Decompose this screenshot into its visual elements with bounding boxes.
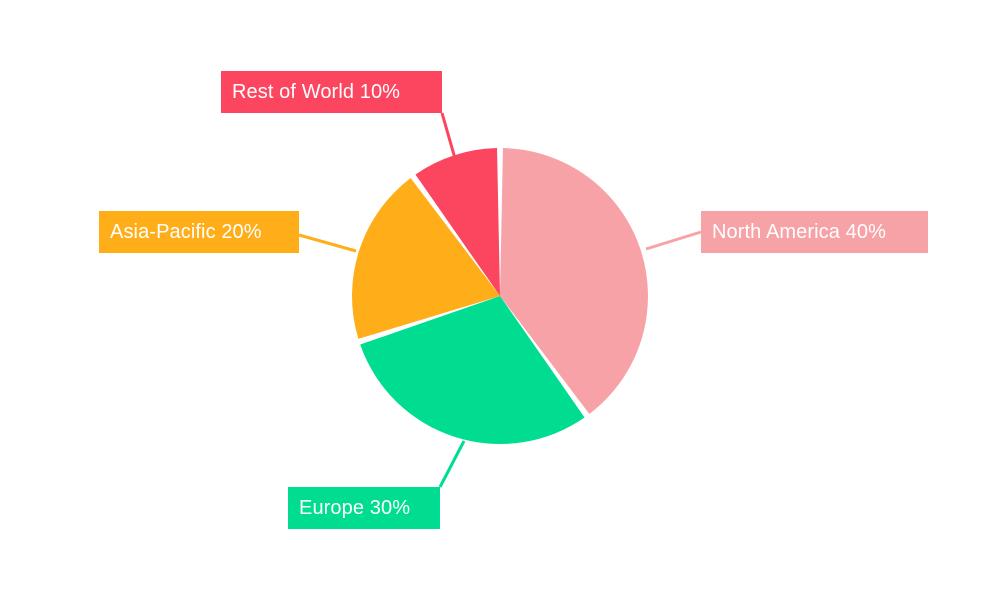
pie-chart-figure: North America 40% Europe 30% Asia-Pacifi… [0,0,1000,600]
pie-slice-label-europe[interactable]: Europe 30% [288,487,440,529]
leader-line-north-america [646,232,701,249]
leader-line-asia-pacific [299,235,356,251]
pie-slice-label-rest-of-world[interactable]: Rest of World 10% [221,71,442,113]
leader-line-europe [440,441,464,487]
leader-line-rest-of-world [442,113,456,162]
pie-chart-canvas [0,0,1000,600]
pie-slice-label-north-america[interactable]: North America 40% [701,211,928,253]
pie-slice-label-asia-pacific[interactable]: Asia-Pacific 20% [99,211,299,253]
pie-slice-group [352,148,648,444]
